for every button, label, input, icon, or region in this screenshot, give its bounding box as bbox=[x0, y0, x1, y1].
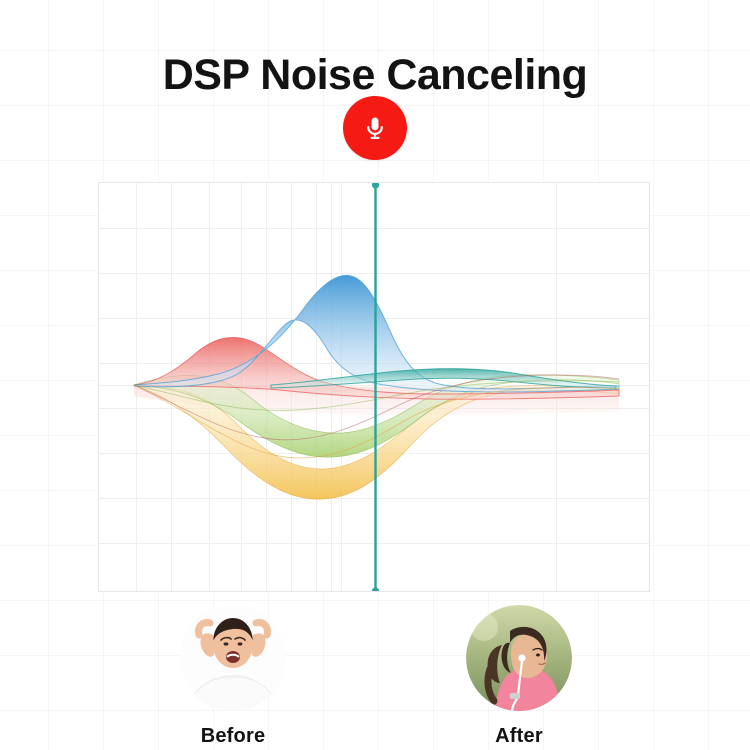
after-photo bbox=[466, 605, 572, 711]
before-photo bbox=[180, 605, 286, 711]
before-label: Before bbox=[180, 725, 286, 748]
after-label: After bbox=[466, 725, 572, 748]
waveform-chart bbox=[98, 182, 650, 592]
microphone-icon bbox=[361, 114, 389, 142]
microphone-badge[interactable] bbox=[343, 96, 407, 160]
before-panel: Before bbox=[180, 605, 286, 748]
page-title: DSP Noise Canceling bbox=[0, 51, 750, 100]
after-panel: After bbox=[466, 605, 572, 748]
